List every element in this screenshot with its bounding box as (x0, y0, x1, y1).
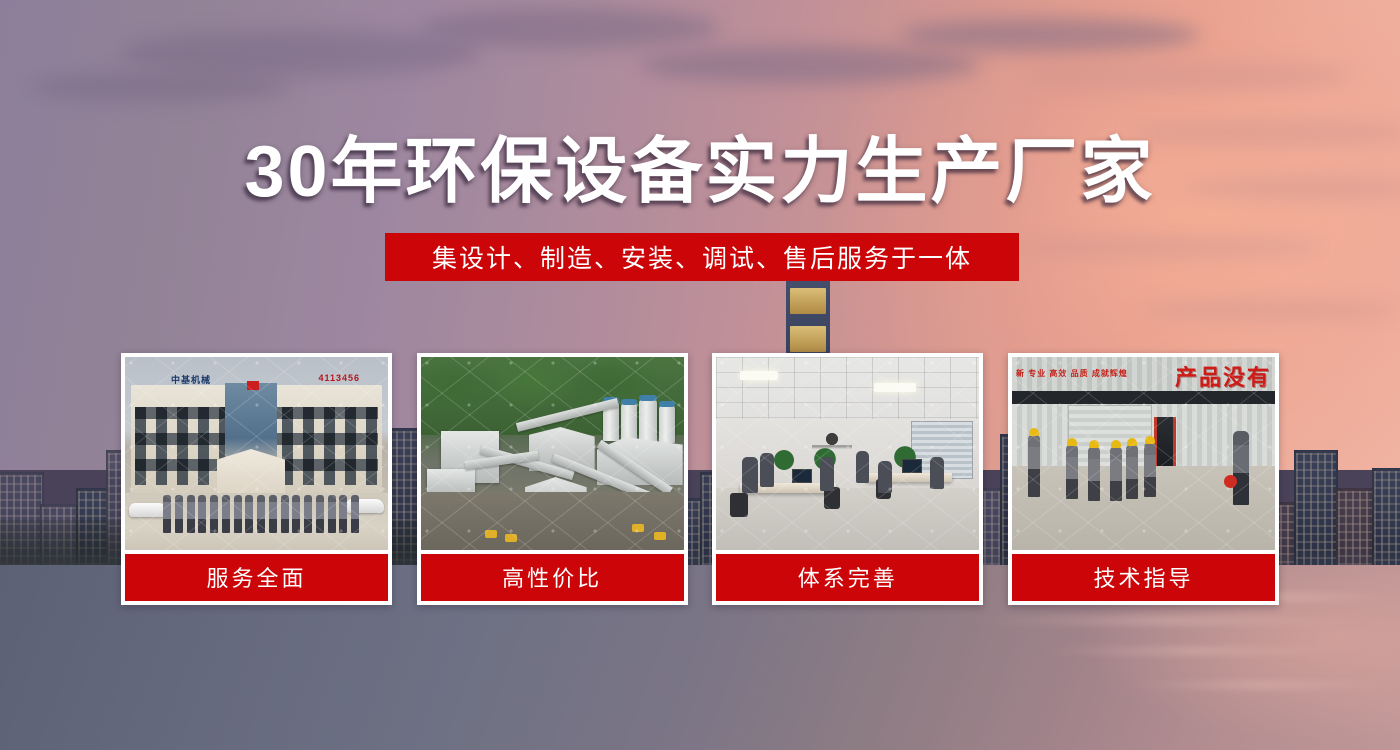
factory-sign-large: 产品没有 (1175, 360, 1271, 392)
subtitle-text: 集设计、制造、安装、调试、售后服务于一体 (432, 239, 972, 275)
subtitle-banner: 集设计、制造、安装、调试、售后服务于一体 (385, 233, 1019, 281)
building-phone-text: 4113456 (318, 373, 360, 383)
feature-card[interactable]: 中基机械 4113456 服务全面 (121, 353, 392, 605)
factory-sign-small: 新 专业 高效 品质 成就辉煌 (1016, 369, 1128, 379)
aerial-industrial-plant-photo (421, 357, 684, 550)
card-caption: 技术指导 (1012, 554, 1275, 601)
feature-card[interactable]: 产品没有 新 专业 高效 品质 成就辉煌 技术指导 (1008, 353, 1279, 605)
card-caption: 体系完善 (716, 554, 979, 601)
page-title: 30年环保设备实力生产厂家 (0, 130, 1400, 214)
cloud (1020, 60, 1350, 92)
promo-banner: 30年环保设备实力生产厂家 集设计、制造、安装、调试、售后服务于一体 中基机械 … (0, 0, 1400, 750)
staff-row (163, 487, 359, 533)
cloud (900, 18, 1200, 52)
feature-card[interactable]: 高性价比 (417, 353, 688, 605)
card-caption: 高性价比 (421, 554, 684, 601)
feature-card[interactable]: 体系完善 (712, 353, 983, 605)
card-caption: 服务全面 (125, 554, 388, 601)
cloud (120, 30, 480, 76)
cloud (420, 8, 720, 48)
factory-workers-training-photo: 产品没有 新 专业 高效 品质 成就辉煌 (1012, 357, 1275, 550)
office-interior-staff-photo (716, 357, 979, 550)
cloud (30, 72, 290, 102)
feature-card-list: 中基机械 4113456 服务全面 (121, 353, 1279, 605)
cloud (640, 46, 980, 84)
building-sign-text: 中基机械 (171, 373, 211, 386)
office-building-staff-photo: 中基机械 4113456 (125, 357, 388, 550)
cloud (1020, 236, 1320, 258)
